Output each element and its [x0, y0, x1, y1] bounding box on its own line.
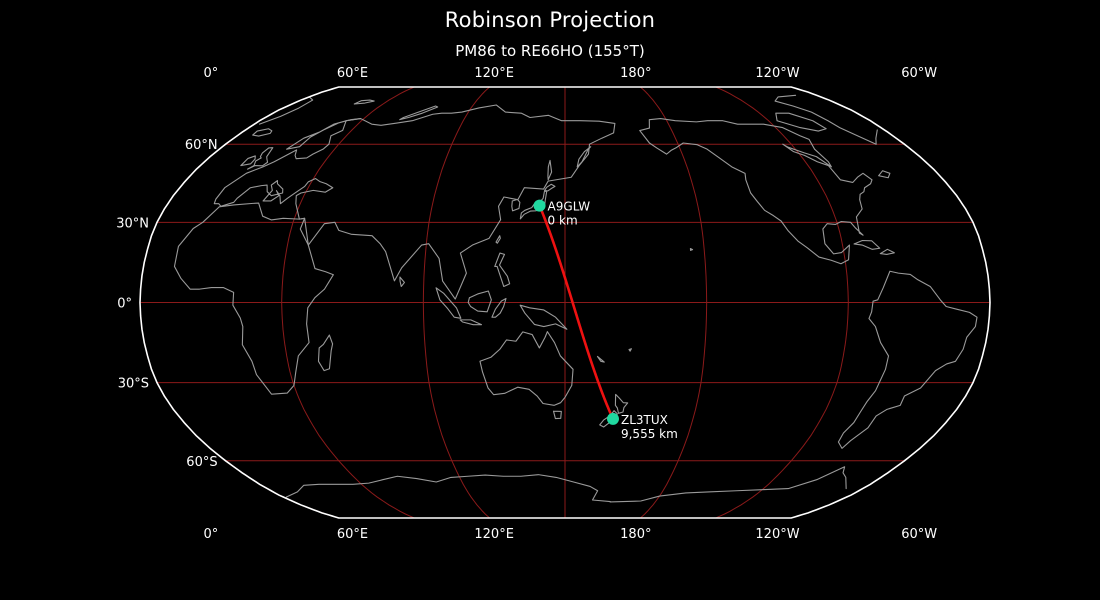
coastline-segment — [495, 253, 510, 286]
great-circle-path — [540, 206, 613, 419]
graticule-layer — [140, 87, 990, 518]
lon-label-top-1: 60°E — [337, 66, 368, 81]
lon-label-top-2: 120°E — [474, 66, 514, 81]
coastline-segment — [629, 349, 631, 351]
station-marker-zl3tux[interactable] — [607, 413, 619, 425]
coastline-segment — [460, 320, 481, 325]
station-label-zl3tux: ZL3TUX — [621, 413, 668, 427]
coastline-segment — [253, 129, 272, 136]
coastline-segment — [492, 298, 506, 317]
coastline-segment — [241, 156, 255, 166]
station-label-a9glw: A9GLW — [548, 200, 591, 214]
station-marker-a9glw[interactable] — [534, 200, 546, 212]
coastline-segment — [496, 236, 500, 243]
lon-label-top-5: 60°W — [901, 66, 937, 81]
coastline-segment — [597, 356, 604, 362]
coastline-segment — [640, 119, 872, 264]
coastline-segment — [838, 271, 977, 448]
coastline-segment — [436, 288, 461, 318]
coastline-segment — [615, 394, 627, 413]
lon-label-top-4: 120°W — [755, 66, 799, 81]
coastline-segment — [876, 130, 877, 144]
station-distance-zl3tux: 9,555 km — [621, 427, 678, 441]
lat-label-2: 0° — [117, 297, 132, 312]
coastline-segment — [520, 305, 567, 329]
lat-label-0: 60°N — [185, 138, 218, 153]
coastline-segment — [548, 160, 552, 179]
lon-label-bottom-4: 120°W — [755, 527, 799, 542]
robinson-map: A9GLW0 kmZL3TUX9,555 km 0°0°60°E60°E120°… — [0, 0, 1100, 600]
coastline-segment — [260, 97, 313, 124]
coastline-segment — [775, 95, 876, 144]
station-distance-a9glw: 0 km — [548, 214, 578, 228]
coastline-segment — [554, 411, 562, 418]
coastline-segment — [577, 147, 590, 167]
lat-label-1: 30°N — [116, 216, 149, 231]
coastline-segment — [400, 106, 438, 120]
coastline-segment — [318, 335, 332, 371]
lon-label-bottom-5: 60°W — [901, 527, 937, 542]
coastline-segment — [468, 291, 491, 312]
coastline-segment — [174, 203, 333, 394]
lat-label-4: 60°S — [186, 455, 217, 470]
great-circle-line — [540, 206, 613, 419]
lon-label-bottom-3: 180° — [620, 527, 651, 542]
coastline-segment — [880, 249, 894, 254]
coastline-segment — [879, 171, 890, 178]
lon-label-bottom-0: 0° — [203, 527, 218, 542]
coastline-segment — [854, 241, 880, 250]
coastline-segment — [248, 148, 273, 169]
lon-label-bottom-1: 60°E — [337, 527, 368, 542]
coastline-segment — [480, 332, 573, 406]
lat-label-3: 30°S — [118, 377, 149, 392]
coastline-segment — [400, 277, 405, 286]
coastline-segment — [512, 199, 520, 210]
lon-label-bottom-2: 120°E — [474, 527, 514, 542]
map-figure: Robinson Projection PM86 to RE66HO (155°… — [0, 0, 1100, 600]
coastline-segment — [286, 475, 610, 502]
lon-label-top-3: 180° — [620, 66, 651, 81]
coastline-layer — [174, 95, 977, 502]
coastline-segment — [610, 467, 846, 502]
lon-label-top-0: 0° — [203, 66, 218, 81]
coastline-segment — [690, 249, 692, 251]
coastline-segment — [354, 100, 374, 104]
